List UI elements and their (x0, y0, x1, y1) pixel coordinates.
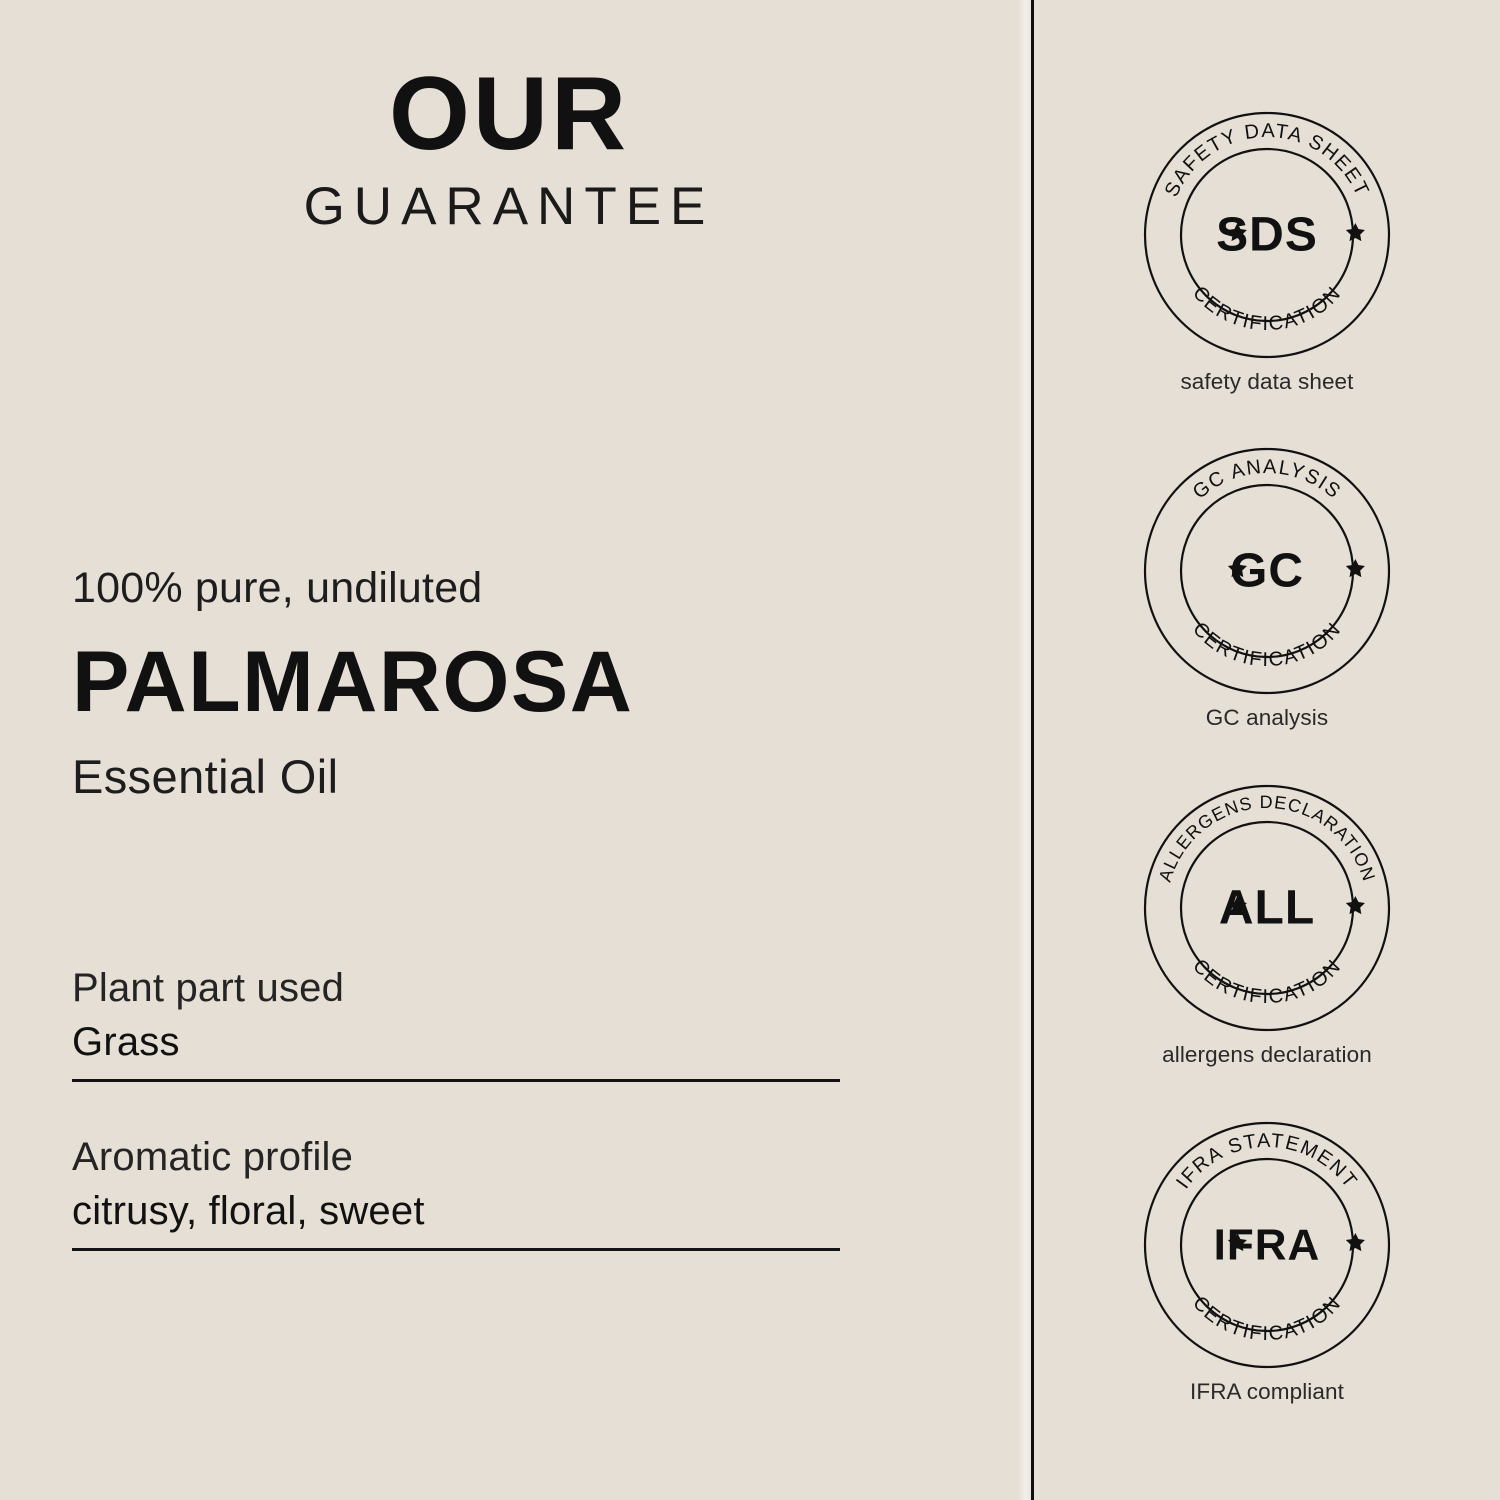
badge-caption: safety data sheet (1034, 368, 1500, 395)
badge-abbreviation: SDS (1216, 209, 1318, 262)
badge-seal-gc: GC ANALYSIS CERTIFICATION GC (1142, 446, 1392, 696)
guarantee-infographic: OUR GUARANTEE 100% pure, undiluted PALMA… (0, 0, 1500, 1500)
certification-badge-gc: GC ANALYSIS CERTIFICATION GC GC analysis (1034, 446, 1500, 731)
product-tagline: 100% pure, undiluted (72, 565, 952, 612)
badge-seal-allergens: ALLERGENS DECLARATION CERTIFICATION ALL (1142, 783, 1392, 1033)
badge-arc-bottom-text: CERTIFICATION (1188, 1292, 1346, 1345)
certification-badge-sds: SAFETY DATA SHEET CERTIFICATION SDS safe… (1034, 110, 1500, 395)
heading-our: OUR (0, 62, 1018, 166)
spec-row-aromatic-profile: Aromatic profile citrusy, floral, sweet (72, 1134, 840, 1251)
badge-arc-bottom-text: CERTIFICATION (1188, 618, 1346, 671)
badge-arc-top-text: IFRA STATEMENT (1172, 1130, 1362, 1193)
product-name: PALMAROSA (72, 639, 952, 725)
spec-divider (72, 1248, 840, 1251)
badge-seal-ifra: IFRA STATEMENT CERTIFICATION IFRA (1142, 1120, 1392, 1370)
spec-label: Plant part used (72, 965, 840, 1011)
badge-arc-bottom-text: CERTIFICATION (1188, 955, 1346, 1008)
product-block: 100% pure, undiluted PALMAROSA Essential… (72, 565, 952, 800)
star-icon-right (1346, 896, 1365, 914)
certification-badge-allergens: ALLERGENS DECLARATION CERTIFICATION ALL … (1034, 783, 1500, 1068)
spec-divider (72, 1079, 840, 1082)
spec-value: citrusy, floral, sweet (72, 1188, 840, 1234)
product-type: Essential Oil (72, 753, 952, 800)
star-icon-right (1346, 1233, 1365, 1251)
star-icon-right (1346, 223, 1365, 241)
badge-abbreviation: IFRA (1214, 1221, 1321, 1270)
badge-abbreviation: ALL (1219, 882, 1315, 935)
spec-value: Grass (72, 1019, 840, 1065)
spec-list: Plant part used Grass Aromatic profile c… (72, 965, 840, 1251)
spec-label: Aromatic profile (72, 1134, 840, 1180)
certification-badge-ifra: IFRA STATEMENT CERTIFICATION IFRA IFRA c… (1034, 1120, 1500, 1405)
badge-caption: allergens declaration (1034, 1041, 1500, 1068)
heading-guarantee: GUARANTEE (0, 180, 1018, 233)
badge-caption: IFRA compliant (1034, 1378, 1500, 1405)
page-title: OUR GUARANTEE (0, 62, 1018, 233)
badge-seal-sds: SAFETY DATA SHEET CERTIFICATION SDS (1142, 110, 1392, 360)
star-icon-right (1346, 559, 1365, 577)
badge-caption: GC analysis (1034, 704, 1500, 731)
spec-row-plant-part: Plant part used Grass (72, 965, 840, 1082)
panel-divider-shade (1018, 0, 1031, 1500)
badge-abbreviation: GC (1230, 545, 1304, 598)
certifications-panel: SAFETY DATA SHEET CERTIFICATION SDS safe… (1034, 0, 1500, 1500)
badge-arc-top-text: SAFETY DATA SHEET (1161, 120, 1374, 200)
badge-arc-bottom-text: CERTIFICATION (1188, 282, 1346, 335)
left-panel: OUR GUARANTEE 100% pure, undiluted PALMA… (0, 0, 1018, 1500)
badge-arc-top-text: ALLERGENS DECLARATION (1155, 792, 1379, 884)
